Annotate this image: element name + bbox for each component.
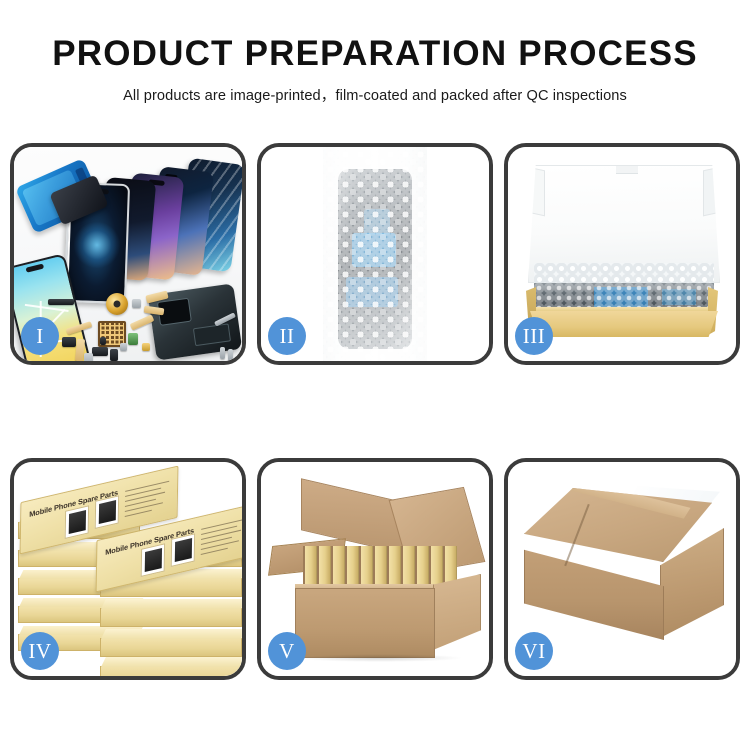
gold-coil-part bbox=[106, 293, 128, 315]
spare-part bbox=[84, 353, 93, 361]
box-window-graphic bbox=[95, 495, 119, 529]
spare-part bbox=[48, 299, 74, 305]
spare-part bbox=[128, 333, 138, 345]
step-1-image: I bbox=[14, 147, 242, 361]
step-3-image: III bbox=[508, 147, 736, 361]
carton-front-panel bbox=[524, 544, 664, 640]
box-spec-lines bbox=[201, 519, 242, 561]
lid-side-flap-right bbox=[703, 166, 725, 217]
step-badge-1: I bbox=[21, 317, 59, 355]
process-steps-grid: I II bbox=[10, 143, 740, 680]
kraft-box-edge bbox=[100, 666, 242, 676]
box-window-graphic bbox=[141, 543, 165, 577]
spare-part bbox=[120, 343, 127, 351]
step-5-image: V bbox=[261, 462, 489, 676]
step-panel-4: Mobile Phone Spare Parts Mobile Phone Sp… bbox=[10, 458, 246, 680]
cracked-screen-notch bbox=[25, 264, 44, 273]
spare-part bbox=[132, 299, 141, 308]
spare-part bbox=[220, 347, 225, 359]
step-panel-6: VI bbox=[504, 458, 740, 680]
spare-part bbox=[62, 337, 76, 347]
page-subtitle: All products are image-printed，film-coat… bbox=[0, 84, 750, 105]
lid-side-flap-left bbox=[523, 166, 545, 217]
box-window-graphic bbox=[65, 505, 89, 539]
carton-shadow bbox=[297, 654, 463, 662]
page-title: PRODUCT PREPARATION PROCESS bbox=[0, 36, 750, 73]
step-4-image: Mobile Phone Spare Parts Mobile Phone Sp… bbox=[14, 462, 242, 676]
spare-part bbox=[100, 337, 106, 345]
sealed-shipping-carton bbox=[524, 488, 724, 656]
step-badge-3: III bbox=[515, 317, 553, 355]
product-preparation-infographic: PRODUCT PREPARATION PROCESS All products… bbox=[0, 0, 750, 750]
box-spec-lines bbox=[125, 481, 170, 523]
carton-front-panel bbox=[295, 588, 435, 658]
step-panel-3: III bbox=[504, 143, 740, 365]
step-badge-6: VI bbox=[515, 632, 553, 670]
kraft-box-edge bbox=[100, 608, 242, 627]
kraft-box-edge bbox=[100, 638, 242, 657]
carton-mark bbox=[537, 671, 559, 676]
plastic-film-sheen bbox=[323, 147, 427, 361]
screen-glow bbox=[73, 222, 121, 270]
box-window-graphic bbox=[171, 533, 195, 567]
step-badge-5: V bbox=[268, 632, 306, 670]
spare-part bbox=[228, 349, 233, 361]
carton-side-panel bbox=[433, 574, 481, 650]
spare-part bbox=[92, 347, 108, 356]
step-panel-5: V bbox=[257, 458, 493, 680]
box-front-panel bbox=[530, 311, 718, 337]
open-shipping-carton bbox=[275, 488, 481, 658]
spare-part bbox=[110, 349, 118, 361]
step-badge-2: II bbox=[268, 317, 306, 355]
spare-part bbox=[142, 343, 150, 351]
step-6-image: VI bbox=[508, 462, 736, 676]
step-2-image: II bbox=[261, 147, 489, 361]
step-badge-4: IV bbox=[21, 632, 59, 670]
step-panel-1: I bbox=[10, 143, 246, 365]
step-panel-2: II bbox=[257, 143, 493, 365]
header: PRODUCT PREPARATION PROCESS All products… bbox=[0, 0, 750, 105]
